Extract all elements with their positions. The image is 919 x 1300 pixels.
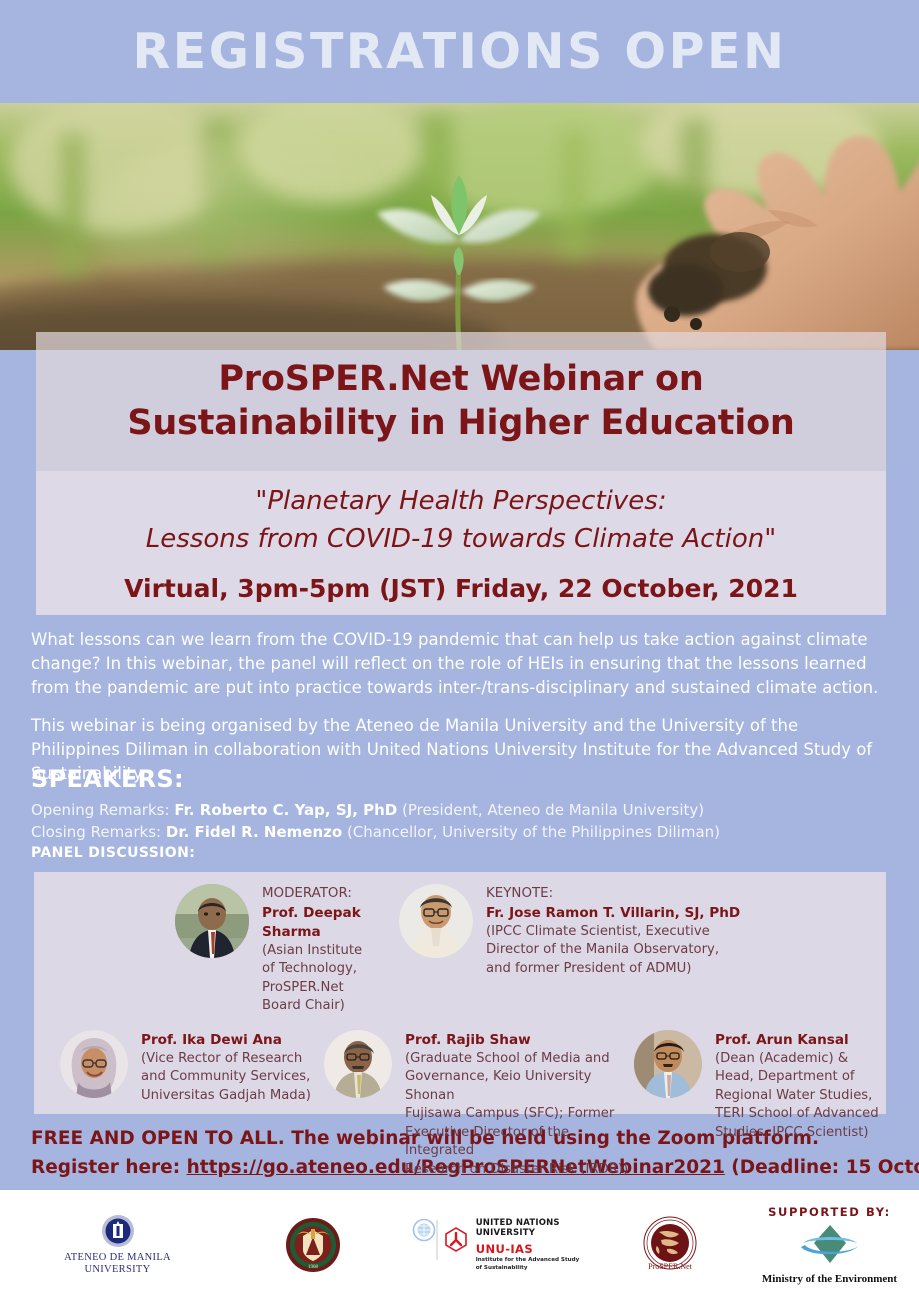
portrait-jose-ramon-villarin-avatar xyxy=(399,884,473,958)
panelist-2-affiliation-line5: Research on Disaster Risk (IRDR)) xyxy=(405,1161,634,1179)
speakers-section: SPEAKERS: Opening Remarks: Fr. Roberto C… xyxy=(31,765,889,843)
subtitle-quote-line2: Lessons from COVID-19 towards Climate Ac… xyxy=(146,521,776,558)
ateneo-caption: ATENEO DE MANILA UNIVERSITY xyxy=(64,1252,171,1277)
portrait-rajib-shaw-avatar xyxy=(324,1030,392,1098)
ateneo-seal-icon xyxy=(101,1214,135,1248)
prosper-net-globe-icon: ProSPER.Net xyxy=(641,1216,699,1274)
moderator-name: Prof. Deepak Sharma xyxy=(262,904,364,942)
panelist-1-affiliation-line1: (Vice Rector of Research xyxy=(141,1050,311,1068)
panelist-3-name: Prof. Arun Kansal xyxy=(715,1031,879,1050)
supported-by-label: SUPPORTED BY: xyxy=(768,1205,891,1219)
page-title-line2: Sustainability in Higher Education xyxy=(127,402,794,446)
portrait-ika-dewi-ana-avatar xyxy=(60,1030,128,1098)
closing-remarks-name: Dr. Fidel R. Nemenzo xyxy=(166,823,342,841)
panelist-1-name: Prof. Ika Dewi Ana xyxy=(141,1031,311,1050)
keynote-role-label: KEYNOTE: xyxy=(486,885,740,904)
ateneo-caption-line2: UNIVERSITY xyxy=(64,1264,171,1276)
unu-name-line2: UNIVERSITY xyxy=(476,1228,580,1239)
logo-ministry-of-the-environment: SUPPORTED BY: Ministry of the Environmen… xyxy=(740,1205,919,1285)
moe-diamond-icon xyxy=(791,1223,869,1269)
opening-remarks-name: Fr. Roberto C. Yap, SJ, PhD xyxy=(174,801,397,819)
panelist-2-affiliation-line2: Governance, Keio University Shonan xyxy=(405,1068,634,1105)
panelist-2-affiliation-line3: Fujisawa Campus (SFC); Former xyxy=(405,1105,634,1123)
svg-text:1908: 1908 xyxy=(308,1265,319,1270)
page-title-line1: ProSPER.Net Webinar on xyxy=(218,358,703,402)
keynote-affiliation-line1: (IPCC Climate Scientist, Executive xyxy=(486,923,740,941)
unu-name-line1: UNITED NATIONS xyxy=(476,1218,580,1229)
poster-root: REGISTRATIONS OPEN xyxy=(0,0,919,1300)
panel-member-3: Prof. Arun Kansal (Dean (Academic) & Hea… xyxy=(634,1030,884,1179)
panelist-3-affiliation-line1: (Dean (Academic) & xyxy=(715,1050,879,1068)
speakers-heading: SPEAKERS: xyxy=(31,765,889,793)
keynote-affiliation-line3: and former President of ADMU) xyxy=(486,960,740,978)
up-diliman-seal-icon: 1908 xyxy=(285,1217,341,1273)
unu-logo-wrap: UNITED NATIONS UNIVERSITY UNU-IAS Instit… xyxy=(411,1218,580,1273)
ateneo-caption-line1: ATENEO DE MANILA xyxy=(64,1252,171,1264)
webinar-title-band: ProSPER.Net Webinar on Sustainability in… xyxy=(36,332,886,471)
panelist-2-affiliation-line4: Executive Director of the Integrated xyxy=(405,1124,634,1161)
unu-mark-icon xyxy=(443,1226,469,1252)
subtitle-quote-line1: "Planetary Health Perspectives: xyxy=(255,483,666,520)
panel-member-2: Prof. Rajib Shaw (Graduate School of Med… xyxy=(324,1030,634,1179)
portrait-arun-kansal-avatar xyxy=(634,1030,702,1098)
unu-text-block: UNITED NATIONS UNIVERSITY UNU-IAS Instit… xyxy=(476,1218,580,1273)
panelist-3-text: Prof. Arun Kansal (Dean (Academic) & Hea… xyxy=(715,1030,879,1179)
webinar-subtitle-band: "Planetary Health Perspectives: Lessons … xyxy=(36,471,886,615)
unu-ias-sub-line1: Institute for the Advanced Study xyxy=(476,1257,580,1264)
speaker-opening-remarks: Opening Remarks: Fr. Roberto C. Yap, SJ,… xyxy=(31,799,889,821)
keynote-text: KEYNOTE: Fr. Jose Ramon T. Villarin, SJ,… xyxy=(486,884,740,1016)
logo-prosper-net: ProSPER.Net xyxy=(600,1216,740,1274)
moderator-affiliation-line2: ProSPER.Net Board Chair) xyxy=(262,979,364,1016)
unu-ias-sub-line2: of Sustainability xyxy=(476,1265,580,1272)
closing-remarks-label: Closing Remarks: xyxy=(31,823,166,841)
panel-row-top: MODERATOR: Prof. Deepak Sharma (Asian In… xyxy=(34,872,886,1016)
keynote-name: Fr. Jose Ramon T. Villarin, SJ, PhD xyxy=(486,904,740,923)
panel-member-keynote: KEYNOTE: Fr. Jose Ramon T. Villarin, SJ,… xyxy=(364,884,864,1016)
panel-member-1: Prof. Ika Dewi Ana (Vice Rector of Resea… xyxy=(34,1030,324,1179)
closing-remarks-affiliation: (Chancellor, University of the Philippin… xyxy=(342,823,720,841)
panelist-2-affiliation-line1: (Graduate School of Media and xyxy=(405,1050,634,1068)
hero-image-seedling xyxy=(0,103,919,350)
opening-remarks-affiliation: (President, Ateneo de Manila University) xyxy=(397,801,704,819)
panelist-2-text: Prof. Rajib Shaw (Graduate School of Med… xyxy=(405,1030,634,1179)
speaker-closing-remarks: Closing Remarks: Dr. Fidel R. Nemenzo (C… xyxy=(31,821,889,843)
portrait-deepak-sharma-avatar xyxy=(175,884,249,958)
panelist-3-affiliation-line5: Studies, IPCC Scientist) xyxy=(715,1124,879,1142)
panel-discussion-heading: PANEL DISCUSSION: xyxy=(31,845,195,861)
panelist-3-affiliation-line2: Head, Department of xyxy=(715,1068,879,1086)
keynote-affiliation-line2: Director of the Manila Observatory, xyxy=(486,941,740,959)
un-emblem-icon xyxy=(411,1218,439,1262)
moderator-role-label: MODERATOR: xyxy=(262,885,364,904)
panel-discussion-box: MODERATOR: Prof. Deepak Sharma (Asian In… xyxy=(34,872,886,1114)
unu-ias-acronym: UNU-IAS xyxy=(476,1242,580,1256)
registrations-open-banner: REGISTRATIONS OPEN xyxy=(0,0,919,103)
panel-member-moderator: MODERATOR: Prof. Deepak Sharma (Asian In… xyxy=(34,884,364,1016)
moe-caption: Ministry of the Environment xyxy=(762,1273,897,1285)
panelist-1-text: Prof. Ika Dewi Ana (Vice Rector of Resea… xyxy=(141,1030,311,1179)
logo-unu-ias: UNITED NATIONS UNIVERSITY UNU-IAS Instit… xyxy=(390,1218,600,1273)
panelist-3-affiliation-line4: TERI School of Advanced xyxy=(715,1105,879,1123)
panelist-1-affiliation-line3: Universitas Gadjah Mada) xyxy=(141,1087,311,1105)
logo-ateneo-de-manila-university: ATENEO DE MANILA UNIVERSITY xyxy=(0,1214,235,1277)
moderator-affiliation-line1: (Asian Institute of Technology, xyxy=(262,942,364,979)
logo-university-of-the-philippines: 1908 xyxy=(235,1217,390,1273)
opening-remarks-label: Opening Remarks: xyxy=(31,801,174,819)
panelist-3-affiliation-line3: Regional Water Studies, xyxy=(715,1087,879,1105)
banner-title: REGISTRATIONS OPEN xyxy=(133,23,787,80)
event-datetime: Virtual, 3pm-5pm (JST) Friday, 22 Octobe… xyxy=(124,574,798,603)
panel-row-bottom: Prof. Ika Dewi Ana (Vice Rector of Resea… xyxy=(34,1016,886,1179)
description-paragraph-1: What lessons can we learn from the COVID… xyxy=(31,628,889,700)
panelist-1-affiliation-line2: and Community Services, xyxy=(141,1068,311,1086)
moderator-text: MODERATOR: Prof. Deepak Sharma (Asian In… xyxy=(262,884,364,1016)
footer-logo-bar: ATENEO DE MANILA UNIVERSITY 1908 xyxy=(0,1190,919,1300)
prosper-net-wordmark: ProSPER.Net xyxy=(648,1262,693,1271)
panelist-2-name: Prof. Rajib Shaw xyxy=(405,1031,634,1050)
